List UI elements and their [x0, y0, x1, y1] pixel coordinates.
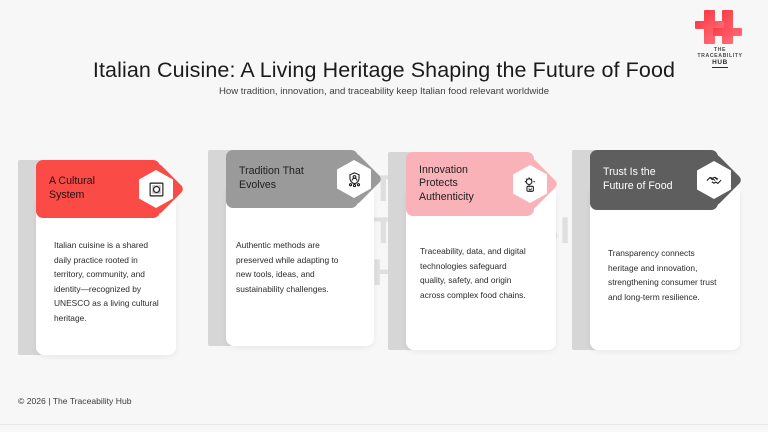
card-body-text: Traceability, data, and digital technolo… [420, 244, 530, 302]
card-body-text: Authentic methods are preserved while ad… [236, 238, 354, 296]
card-body-text: Transparency connects heritage and innov… [608, 246, 722, 304]
footer-divider [0, 424, 768, 425]
gear-robot-icon [522, 176, 539, 193]
framed-artwork-icon [148, 181, 165, 198]
traceability-hub-logo-mark-icon [694, 10, 746, 44]
slide-canvas: THE TRACEABILITY HUB THE TRACEABILITY HU… [0, 0, 768, 432]
footer-copyright: © 2026 | The Traceability Hub [18, 396, 132, 406]
logo-line-hub: HUB [712, 60, 728, 68]
brand-logo: THE TRACEABILITY HUB [688, 10, 752, 68]
logo-wordmark: THE TRACEABILITY HUB [688, 47, 752, 68]
card-body-text: Italian cuisine is a shared daily practi… [54, 238, 160, 326]
community-shield-icon [346, 171, 363, 188]
page-subtitle: How tradition, innovation, and traceabil… [0, 86, 768, 97]
handshake-icon [705, 171, 723, 189]
page-title: Italian Cuisine: A Living Heritage Shapi… [0, 58, 768, 83]
